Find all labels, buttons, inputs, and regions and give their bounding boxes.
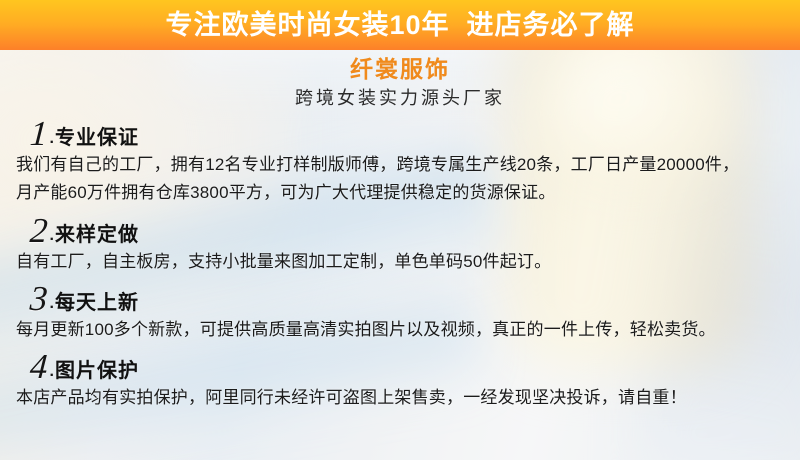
promo-poster: 专注欧美时尚女装10年 进店务必了解 纤裳服饰 跨境女装实力源头厂家 1 . 专…	[0, 0, 800, 460]
feature-number-3: 3	[29, 283, 49, 315]
feature-separator-1: .	[48, 131, 55, 150]
feature-body-1-line1: 我们有自己的工厂，拥有12名专业打样制版师傅，跨境专属生产线20条，工厂日产量2…	[14, 152, 786, 178]
feature-title-4: 图片保护	[55, 361, 139, 383]
feature-heading-3: 3 . 每天上新	[14, 282, 786, 315]
feature-title-2: 来样定做	[55, 225, 139, 247]
header-banner-text: 专注欧美时尚女装10年 进店务必了解	[165, 12, 634, 39]
feature-number-4: 4	[29, 351, 49, 383]
header-banner: 专注欧美时尚女装10年 进店务必了解	[0, 0, 800, 50]
feature-body-4-line1: 本店产品均有实拍保护，阿里同行未经许可盗图上架售卖，一经发现坚决投诉，请自重！	[14, 385, 786, 411]
feature-heading-2: 2 . 来样定做	[14, 214, 786, 247]
feature-separator-4: .	[48, 364, 55, 383]
brand-name: 纤裳服饰	[0, 57, 800, 82]
feature-body-2-line1: 自有工厂，自主板房，支持小批量来图加工定制，单色单码50件起订。	[14, 249, 786, 275]
feature-separator-2: .	[48, 228, 55, 247]
feature-section-1: 1 . 专业保证 我们有自己的工厂，拥有12名专业打样制版师傅，跨境专属生产线2…	[0, 117, 800, 207]
feature-number-2: 2	[29, 215, 49, 247]
feature-section-4: 4 . 图片保护 本店产品均有实拍保护，阿里同行未经许可盗图上架售卖，一经发现坚…	[0, 350, 800, 411]
feature-number-1: 1	[29, 118, 49, 150]
feature-title-3: 每天上新	[55, 293, 139, 315]
feature-body-3-line1: 每月更新100多个新款，可提供高质量高清实拍图片以及视频，真正的一件上传，轻松卖…	[14, 317, 786, 343]
feature-body-1-line2: 月产能60万件拥有仓库3800平方，可为广大代理提供稳定的货源保证。	[14, 180, 786, 206]
feature-section-3: 3 . 每天上新 每月更新100多个新款，可提供高质量高清实拍图片以及视频，真正…	[0, 282, 800, 343]
feature-heading-4: 4 . 图片保护	[14, 350, 786, 383]
feature-title-1: 专业保证	[55, 128, 139, 150]
poster-content: 纤裳服饰 跨境女装实力源头厂家 1 . 专业保证 我们有自己的工厂，拥有12名专…	[0, 50, 800, 460]
feature-heading-1: 1 . 专业保证	[14, 117, 786, 150]
feature-sections: 1 . 专业保证 我们有自己的工厂，拥有12名专业打样制版师傅，跨境专属生产线2…	[0, 117, 800, 412]
feature-section-2: 2 . 来样定做 自有工厂，自主板房，支持小批量来图加工定制，单色单码50件起订…	[0, 214, 800, 275]
feature-separator-3: .	[48, 296, 55, 315]
brand-subtitle: 跨境女装实力源头厂家	[0, 89, 800, 109]
